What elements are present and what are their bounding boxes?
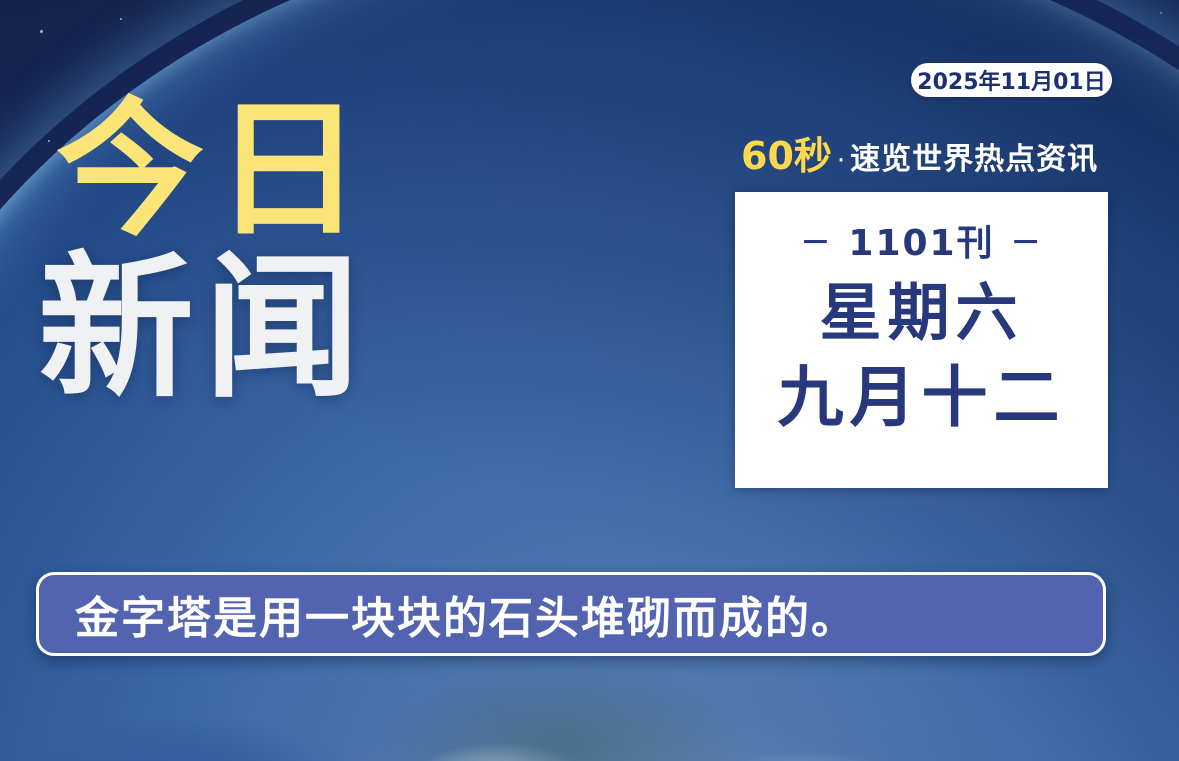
tagline-text: 速览世界热点资讯 bbox=[850, 145, 1098, 175]
news-poster: 今日 新闻 2025年11月01日 60秒 · 速览世界热点资讯 － 1101刊… bbox=[0, 0, 1179, 761]
title-line-1: 今日 bbox=[56, 96, 372, 244]
issue-row: － 1101刊 － bbox=[800, 214, 1042, 266]
headline: 今日 新闻 bbox=[56, 96, 372, 406]
issue-number: 1101刊 bbox=[848, 214, 994, 266]
lunar-date-text: 九月十二 bbox=[778, 363, 1066, 432]
date-badge: 2025年11月01日 bbox=[911, 63, 1112, 97]
quote-bar: 金字塔是用一块块的石头堆砌而成的。 bbox=[36, 572, 1106, 656]
tagline-duration: 60秒 bbox=[741, 137, 832, 175]
weekday-text: 星期六 bbox=[819, 280, 1023, 345]
dash-left: － bbox=[800, 218, 832, 262]
date-badge-text: 2025年11月01日 bbox=[917, 64, 1105, 96]
dash-right: － bbox=[1011, 218, 1043, 262]
date-card: － 1101刊 － 星期六 九月十二 bbox=[735, 192, 1108, 488]
title-line-2: 新闻 bbox=[38, 250, 372, 406]
tagline-separator: · bbox=[837, 148, 845, 174]
quote-text: 金字塔是用一块块的石头堆砌而成的。 bbox=[75, 582, 857, 646]
tagline: 60秒 · 速览世界热点资讯 bbox=[741, 137, 1111, 175]
